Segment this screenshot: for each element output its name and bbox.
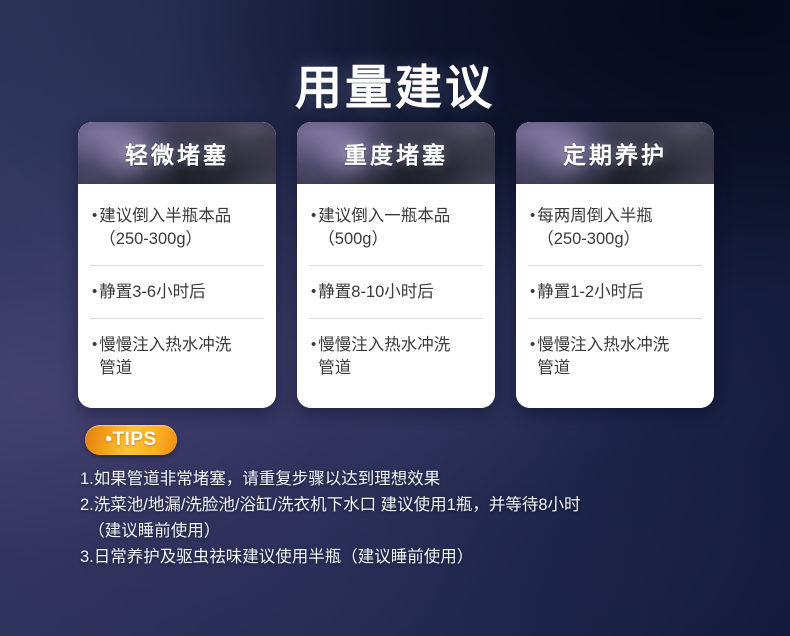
card-title-light-clog: 轻微堵塞 [125, 136, 229, 170]
tips-line: 3.日常养护及驱虫祛味建议使用半瓶（建议睡前使用） [80, 544, 770, 570]
usage-card-regular-care: 定期养护 • 每两周倒入半瓶 （250-300g） • 静置1-2小时后 • 慢… [516, 122, 714, 408]
usage-card-light-clog: 轻微堵塞 • 建议倒入半瓶本品 （250-300g） • 静置3-6小时后 • … [78, 122, 276, 408]
usage-card-severe-clog: 重度堵塞 • 建议倒入一瓶本品 （500g） • 静置8-10小时后 • 慢慢注… [297, 122, 495, 408]
list-item: • 建议倒入半瓶本品 （250-300g） [90, 190, 264, 266]
tips-line: 2.洗菜池/地漏/洗脸池/浴缸/洗衣机下水口 建议使用1瓶，并等待8小时 （建议… [80, 492, 770, 544]
bullet-icon: • [92, 205, 97, 227]
bullet-icon: • [311, 281, 316, 303]
tips-list: 1.如果管道非常堵塞，请重复步骤以达到理想效果 2.洗菜池/地漏/洗脸池/浴缸/… [80, 466, 770, 570]
card-title-severe-clog: 重度堵塞 [344, 136, 448, 170]
card-header-regular-care: 定期养护 [516, 122, 714, 184]
list-item: • 每两周倒入半瓶 （250-300g） [528, 190, 702, 266]
bullet-icon: • [530, 334, 535, 356]
list-item: • 慢慢注入热水冲洗 管道 [528, 319, 702, 394]
list-item-text: 每两周倒入半瓶 （250-300g） [537, 205, 653, 251]
list-item-text: 静置1-2小时后 [537, 281, 643, 304]
bullet-icon: • [92, 281, 97, 303]
bullet-icon: • [92, 334, 97, 356]
bullet-icon: • [311, 205, 316, 227]
card-title-regular-care: 定期养护 [563, 136, 667, 170]
tips-badge: •TIPS [85, 425, 177, 455]
card-body-severe-clog: • 建议倒入一瓶本品 （500g） • 静置8-10小时后 • 慢慢注入热水冲洗… [297, 184, 495, 408]
bullet-icon: • [530, 205, 535, 227]
usage-cards-row: 轻微堵塞 • 建议倒入半瓶本品 （250-300g） • 静置3-6小时后 • … [78, 122, 714, 408]
card-header-severe-clog: 重度堵塞 [297, 122, 495, 184]
list-item-text: 静置3-6小时后 [99, 281, 205, 304]
list-item-text: 慢慢注入热水冲洗 管道 [537, 334, 669, 380]
page-title: 用量建议 [0, 49, 790, 118]
list-item: • 慢慢注入热水冲洗 管道 [90, 319, 264, 394]
card-header-light-clog: 轻微堵塞 [78, 122, 276, 184]
bullet-icon: • [530, 281, 535, 303]
list-item: • 慢慢注入热水冲洗 管道 [309, 319, 483, 394]
bullet-icon: • [311, 334, 316, 356]
tips-line: 1.如果管道非常堵塞，请重复步骤以达到理想效果 [80, 466, 770, 492]
card-body-regular-care: • 每两周倒入半瓶 （250-300g） • 静置1-2小时后 • 慢慢注入热水… [516, 184, 714, 408]
list-item-text: 静置8-10小时后 [318, 281, 434, 304]
list-item: • 建议倒入一瓶本品 （500g） [309, 190, 483, 266]
promo-page: 用量建议 轻微堵塞 • 建议倒入半瓶本品 （250-300g） • 静置3-6小… [0, 0, 790, 636]
list-item-text: 慢慢注入热水冲洗 管道 [99, 334, 231, 380]
list-item: • 静置8-10小时后 [309, 266, 483, 319]
tips-badge-label: •TIPS [105, 429, 156, 451]
list-item: • 静置3-6小时后 [90, 266, 264, 319]
list-item-text: 建议倒入一瓶本品 （500g） [318, 205, 450, 251]
list-item-text: 慢慢注入热水冲洗 管道 [318, 334, 450, 380]
card-body-light-clog: • 建议倒入半瓶本品 （250-300g） • 静置3-6小时后 • 慢慢注入热… [78, 184, 276, 408]
list-item: • 静置1-2小时后 [528, 266, 702, 319]
list-item-text: 建议倒入半瓶本品 （250-300g） [99, 205, 231, 251]
